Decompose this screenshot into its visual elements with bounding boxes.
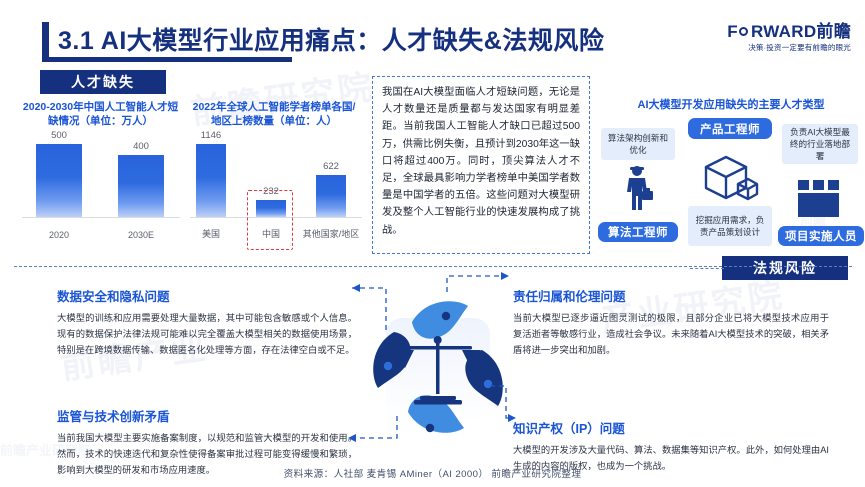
engineer-icon <box>622 163 656 215</box>
chart1-bar-0: 500 <box>36 130 82 217</box>
talent-desc-0: 算法架构创新和优化 <box>601 128 675 160</box>
chart1-value-0: 500 <box>51 130 67 141</box>
talent-desc-1: 挖掘应用需求，负责产品策划设计 <box>688 206 772 246</box>
section-divider <box>14 266 852 267</box>
chart1-xtick-1: 2030E <box>112 230 170 240</box>
quadrant-title: 监管与技术创新矛盾 <box>57 406 357 425</box>
cube-icon <box>700 152 760 206</box>
chart2-bar-fill-0 <box>196 144 226 217</box>
chart2-xtick-2: 其他国家/地区 <box>298 227 364 240</box>
chart1-title: 2020-2030年中国人工智能人才短缺情况（单位：万人） <box>18 100 183 128</box>
quadrant-body: 大模型的训练和应用需要处理大量数据，其中可能包含敏感或个人信息。现有的数据保护法… <box>57 310 357 358</box>
talent-desc-2: 负责AI大模型最终的行业落地部署 <box>782 124 858 164</box>
chart1-bar-fill-0 <box>36 144 82 217</box>
logo-prefix: F <box>727 22 738 41</box>
title-accent-bar <box>42 22 49 57</box>
chart1-bar-fill-1 <box>118 155 164 217</box>
server-icon <box>794 180 846 220</box>
quadrant-title: 知识产权（IP）问题 <box>513 418 829 437</box>
chart1-value-1: 400 <box>133 141 149 152</box>
talent-types-title: AI大模型开发应用缺失的主要人才类型 <box>600 96 862 112</box>
talent-label-2[interactable]: 项目实施人员 <box>778 226 864 246</box>
header: 3.1 AI大模型行业应用痛点：人才缺失&法规风险 F RWARD前瞻 决策·投… <box>0 18 865 62</box>
page-title: 3.1 AI大模型行业应用痛点：人才缺失&法规风险 <box>58 21 604 57</box>
chart2-bar-0: 1146 <box>196 130 226 217</box>
chart2-xtick-0: 美国 <box>188 227 234 240</box>
logo-suffix: RWARD前瞻 <box>751 22 851 41</box>
scales-of-justice-icon <box>352 280 524 460</box>
section-chip-talent: 人才缺失 <box>40 70 166 94</box>
quadrant-responsibility-ethics: 责任归属和伦理问题 当前大模型已逐步逼近图灵测试的极限，且部分企业已将大模型技术… <box>513 286 829 358</box>
quadrant-body: 当前大模型已逐步逼近图灵测试的极限，且部分企业已将大模型技术应用于复活逝者等敏感… <box>513 310 829 358</box>
talent-label-1[interactable]: 产品工程师 <box>688 118 772 139</box>
chart1-xtick-0: 2020 <box>36 230 82 240</box>
talent-label-0[interactable]: 算法工程师 <box>598 222 678 242</box>
chart2-bar-2: 622 <box>316 130 346 217</box>
header-underline <box>42 57 292 62</box>
logo-o-icon <box>738 22 751 41</box>
chart2-title: 2022年全球人工智能学者榜单各国/地区上榜数量（单位：人） <box>190 100 358 128</box>
chart1-plot: 500 400 <box>22 130 180 218</box>
slide-root: 前瞻研究院 产业研究院 前瞻产业 前瞻产业研究院 前瞻 3.1 AI大模型行业应… <box>0 0 865 487</box>
chart1-bar-1: 400 <box>118 130 164 217</box>
chart1-talent-gap-bar: 500 400 2020 2030E <box>22 130 180 240</box>
logo-tagline: 决策·投资一定要有前瞻的眼光 <box>727 42 851 53</box>
source-note: 资料来源：人社部 麦肯锡 AMiner（AI 2000） 前瞻产业研究院整理 <box>0 466 865 480</box>
quadrant-title: 责任归属和伦理问题 <box>513 286 829 305</box>
insight-textbox: 我国在AI大模型面临人才短缺问题，无论是人才数量还是质量都与发达国家有明显差距。… <box>372 76 590 254</box>
forward-logo: F RWARD前瞻 决策·投资一定要有前瞻的眼光 <box>727 22 851 53</box>
chart2-value-2: 622 <box>323 161 339 172</box>
law-chip-connector <box>690 268 724 269</box>
quadrant-data-security: 数据安全和隐私问题 大模型的训练和应用需要处理大量数据，其中可能包含敏感或个人信… <box>57 286 357 358</box>
quadrant-title: 数据安全和隐私问题 <box>57 286 357 305</box>
logo-wordmark: F RWARD前瞻 <box>727 22 851 41</box>
chart2-value-0: 1146 <box>201 130 221 141</box>
section-chip-law: 法规风险 <box>722 256 848 280</box>
chart2-china-highlight-box <box>247 190 293 250</box>
chart2-bar-fill-2 <box>316 175 346 217</box>
